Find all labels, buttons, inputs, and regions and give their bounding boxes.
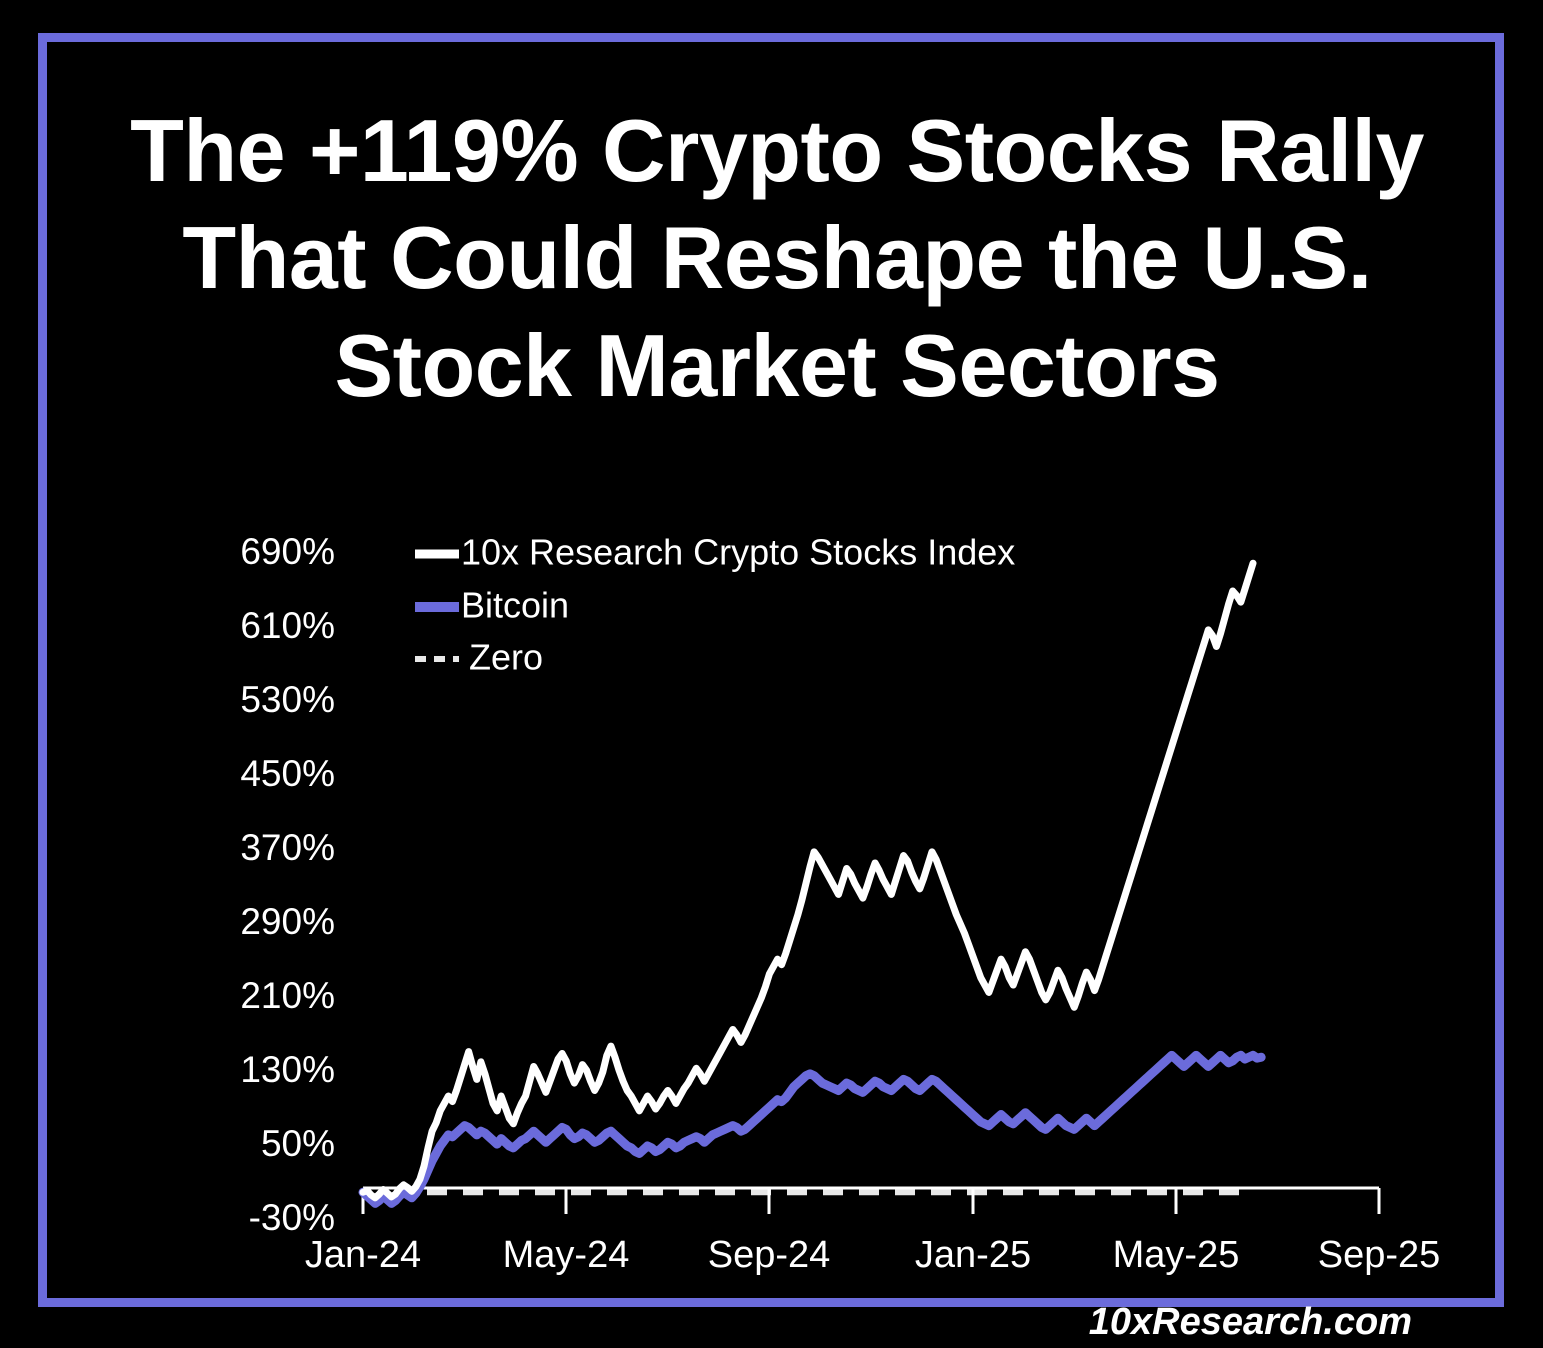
poster-frame: The +119% Crypto Stocks Rally That Could… [38, 33, 1504, 1307]
x-axis: Jan-24 May-24 Sep-24 Jan-25 May-25 Sep-2… [305, 1188, 1440, 1276]
y-axis-labels: 690% 610% 530% 450% 370% 290% 210% 130% … [240, 531, 335, 1238]
x-tick-label: Sep-25 [1318, 1234, 1441, 1276]
y-tick-label: 290% [240, 901, 335, 942]
x-tick-label: May-24 [503, 1234, 630, 1276]
y-tick-label: 530% [240, 679, 335, 720]
chart-container: 690% 610% 530% 450% 370% 290% 210% 130% … [47, 462, 1513, 1322]
y-tick-label: 610% [240, 605, 335, 646]
legend-label-zero: Zero [469, 637, 543, 678]
legend-label-index: 10x Research Crypto Stocks Index [461, 532, 1015, 573]
page-title: The +119% Crypto Stocks Rally That Could… [107, 97, 1447, 419]
crypto-stocks-line-chart: 690% 610% 530% 450% 370% 290% 210% 130% … [47, 462, 1513, 1342]
y-tick-label: 370% [240, 827, 335, 868]
legend-label-bitcoin: Bitcoin [461, 585, 569, 626]
y-tick-label: 690% [240, 531, 335, 572]
y-tick-label: 50% [261, 1123, 335, 1164]
x-tick-label: May-25 [1113, 1234, 1240, 1276]
x-tick-label: Jan-25 [915, 1234, 1031, 1276]
x-tick-label: Sep-24 [708, 1234, 831, 1276]
y-tick-label: 210% [240, 975, 335, 1016]
watermark-text: 10xResearch.com [1089, 1301, 1412, 1342]
y-tick-label: 450% [240, 753, 335, 794]
poster-canvas: The +119% Crypto Stocks Rally That Could… [0, 0, 1543, 1348]
chart-legend: 10x Research Crypto Stocks Index Bitcoin… [415, 532, 1015, 678]
y-tick-label: -30% [249, 1197, 335, 1238]
series-line-bitcoin [363, 1055, 1261, 1203]
x-tick-label: Jan-24 [305, 1234, 421, 1276]
y-tick-label: 130% [240, 1049, 335, 1090]
